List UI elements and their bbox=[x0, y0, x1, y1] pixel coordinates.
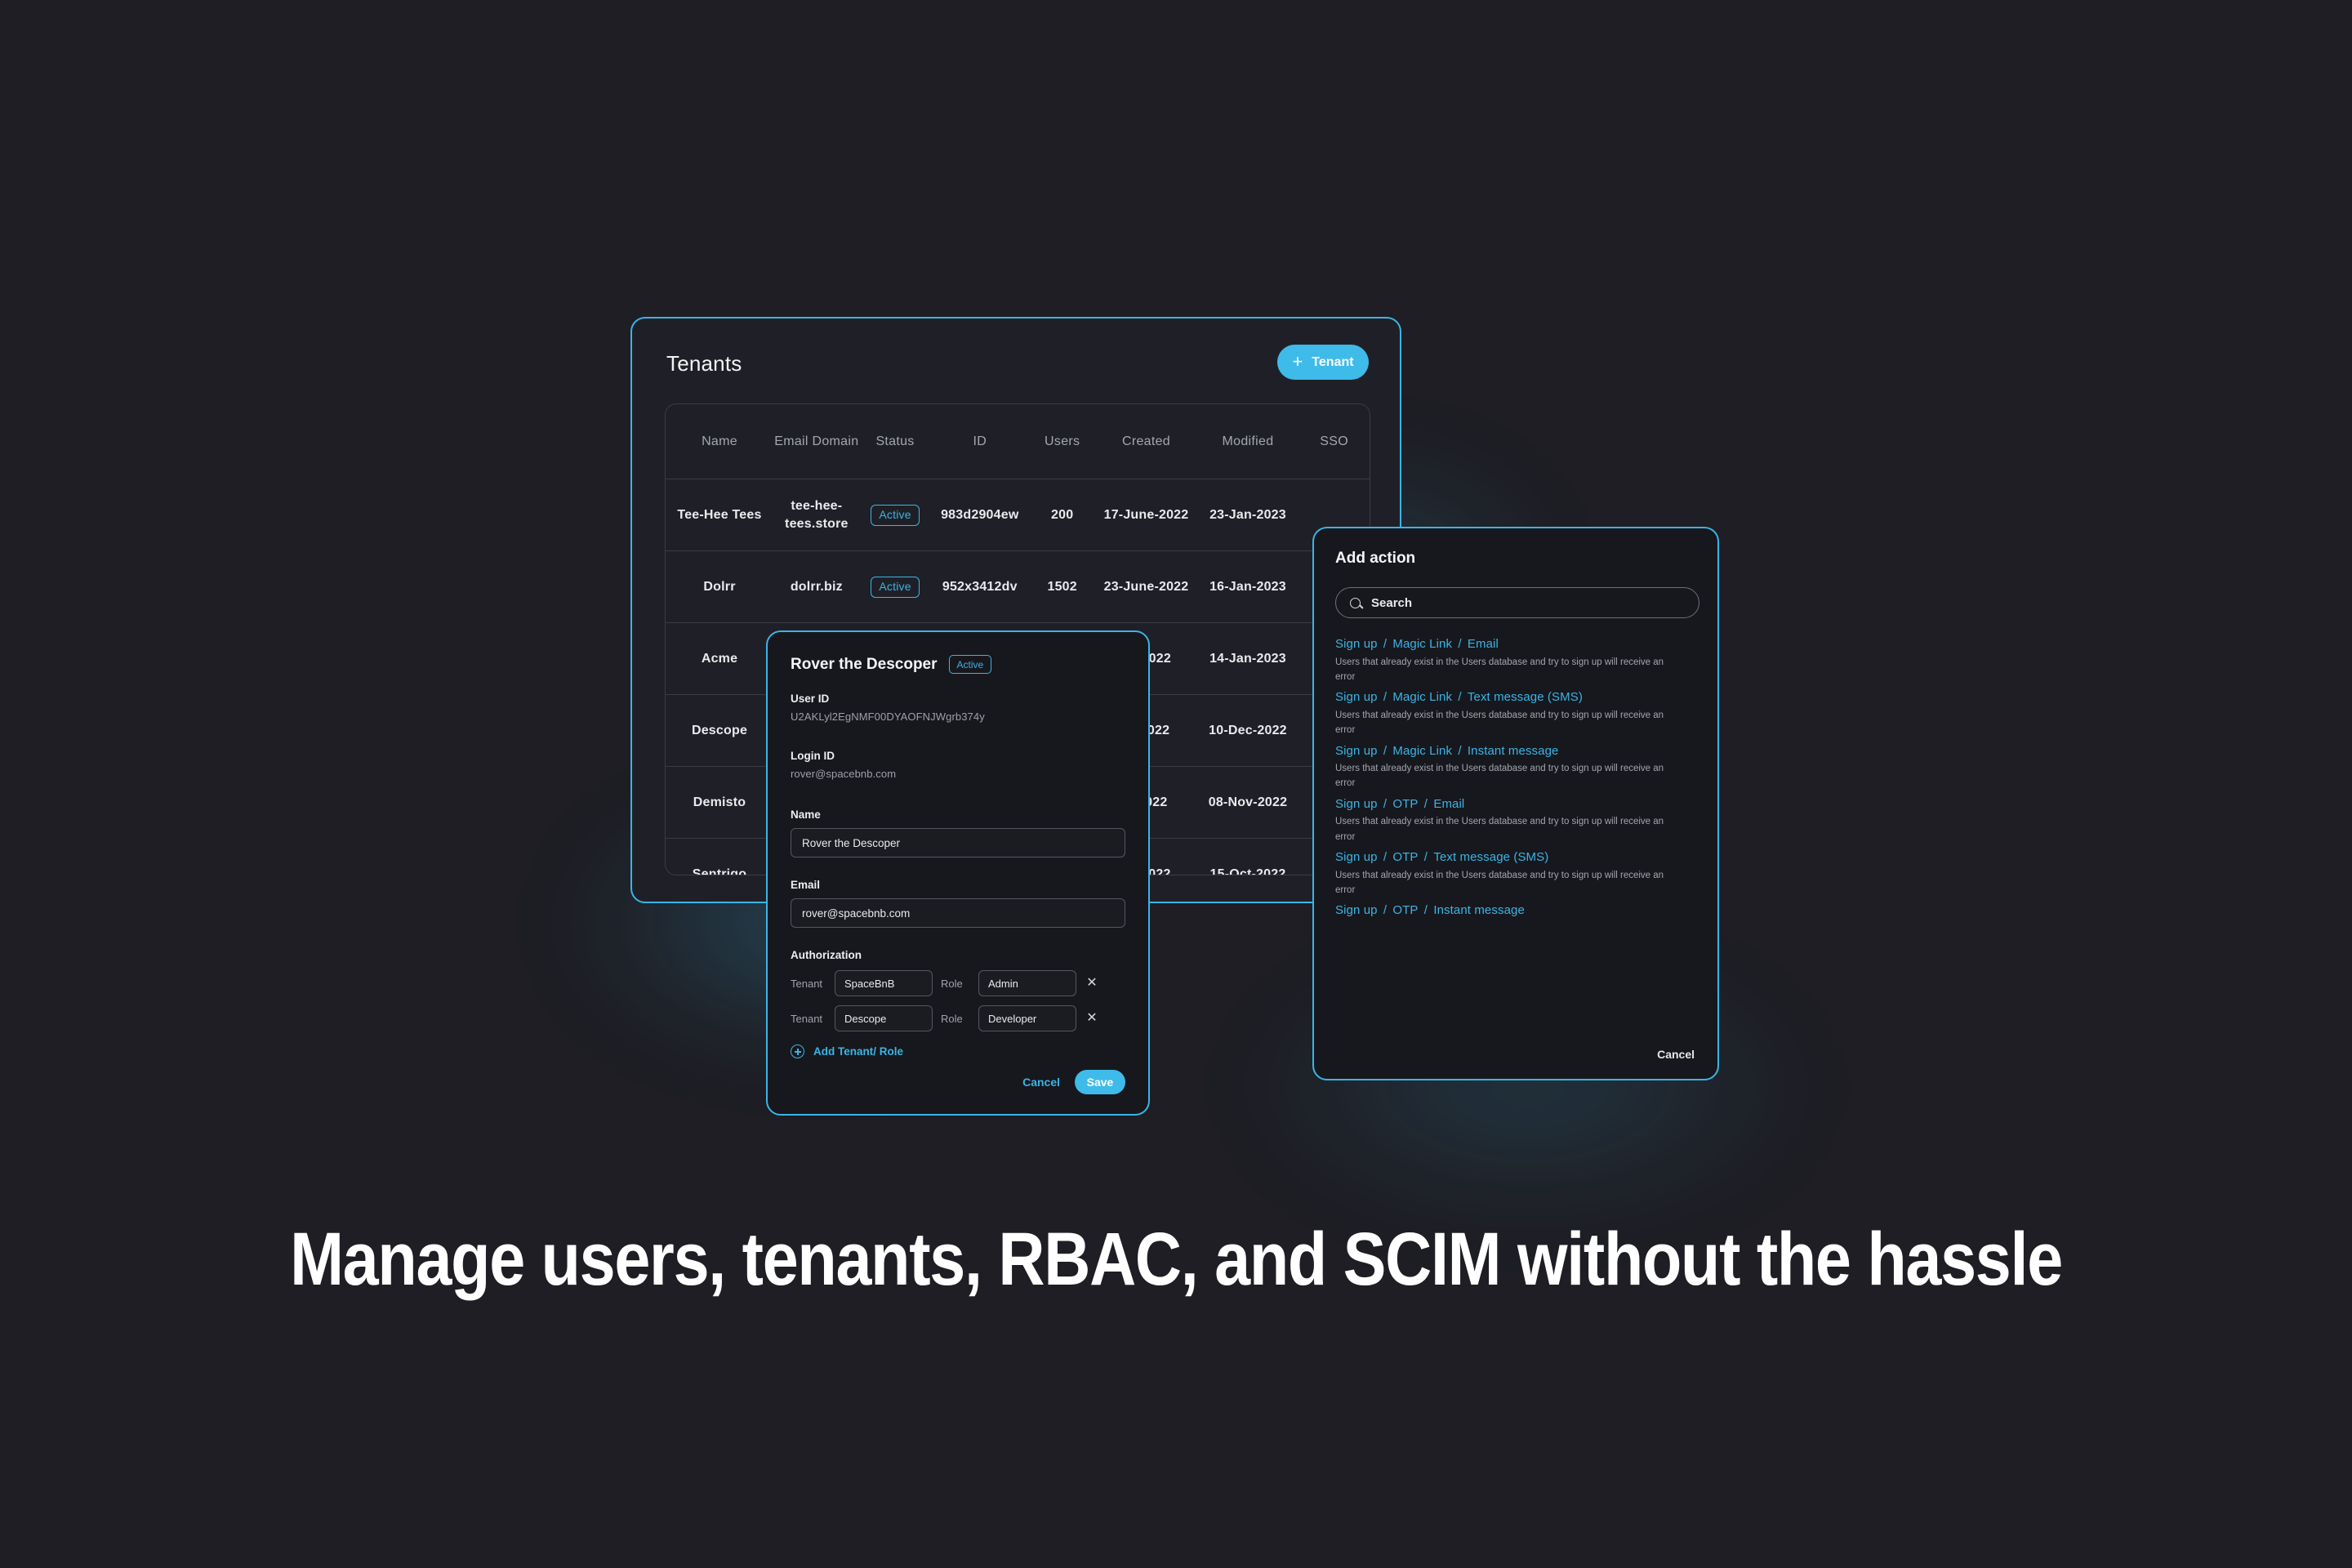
login-id-label: Login ID bbox=[791, 750, 1125, 762]
authorization-block: Authorization Tenant Role ✕ Tenant Role … bbox=[791, 949, 1125, 1058]
tenant-input[interactable] bbox=[835, 1005, 933, 1031]
column-header-created[interactable]: Created bbox=[1095, 434, 1196, 449]
action-link[interactable]: Sign up / Magic Link / Email bbox=[1335, 635, 1704, 654]
circle-plus-icon bbox=[791, 1045, 804, 1058]
add-action-title: Add action bbox=[1335, 550, 1415, 568]
action-part-3: Email bbox=[1468, 637, 1499, 651]
add-tenant-role-button[interactable]: Add Tenant/ Role bbox=[791, 1045, 1125, 1058]
authorization-row: Tenant Role ✕ bbox=[791, 1005, 1125, 1031]
separator-icon: / bbox=[1419, 850, 1434, 864]
authorization-label: Authorization bbox=[791, 949, 1125, 961]
cell-id: 952x3412dv bbox=[930, 578, 1029, 596]
list-item[interactable]: Sign up / Magic Link / Text message (SMS… bbox=[1335, 688, 1704, 737]
action-description: Users that already exist in the Users da… bbox=[1335, 814, 1678, 844]
add-tenant-role-label: Add Tenant/ Role bbox=[813, 1045, 903, 1058]
list-item[interactable]: Sign up / OTP / Email Users that already… bbox=[1335, 795, 1704, 844]
name-field-block: Name bbox=[791, 808, 1125, 857]
role-caption: Role bbox=[941, 1013, 970, 1025]
action-part-1: Sign up bbox=[1335, 637, 1378, 651]
status-badge: Active bbox=[871, 577, 919, 598]
action-link[interactable]: Sign up / OTP / Text message (SMS) bbox=[1335, 849, 1704, 867]
cell-id: 983d2904ew bbox=[930, 506, 1029, 524]
action-description: Users that already exist in the Users da… bbox=[1335, 655, 1678, 685]
list-item[interactable]: Sign up / OTP / Instant message bbox=[1335, 902, 1704, 920]
cancel-button[interactable]: Cancel bbox=[1657, 1048, 1695, 1061]
cell-created: 17-June-2022 bbox=[1095, 506, 1196, 524]
separator-icon: / bbox=[1378, 797, 1393, 811]
action-link[interactable]: Sign up / OTP / Email bbox=[1335, 795, 1704, 814]
cell-modified: 16-Jan-2023 bbox=[1197, 578, 1298, 596]
column-header-sso[interactable]: SSO bbox=[1298, 434, 1370, 449]
user-id-label: User ID bbox=[791, 693, 1125, 705]
column-header-users[interactable]: Users bbox=[1029, 434, 1095, 449]
action-part-3: Text message (SMS) bbox=[1468, 690, 1583, 704]
cancel-button[interactable]: Cancel bbox=[1022, 1076, 1060, 1089]
column-header-id[interactable]: ID bbox=[930, 434, 1029, 449]
action-link[interactable]: Sign up / Magic Link / Instant message bbox=[1335, 742, 1704, 761]
action-part-3: Text message (SMS) bbox=[1433, 850, 1548, 864]
action-part-2: OTP bbox=[1392, 797, 1418, 811]
cell-email-domain: dolrr.biz bbox=[773, 578, 860, 596]
column-header-status[interactable]: Status bbox=[860, 434, 931, 449]
action-part-3: Email bbox=[1433, 797, 1464, 811]
add-action-list: Sign up / Magic Link / Email Users that … bbox=[1335, 635, 1704, 924]
user-detail-modal: Rover the Descoper Active User ID U2AKLy… bbox=[766, 630, 1150, 1116]
tenant-caption: Tenant bbox=[791, 1013, 826, 1025]
page-root: Tenants + Tenant Name Email Domain Statu… bbox=[0, 0, 2352, 1568]
separator-icon: / bbox=[1452, 690, 1468, 704]
cell-name: Tee-Hee Tees bbox=[666, 506, 773, 524]
save-button[interactable]: Save bbox=[1075, 1070, 1125, 1094]
cell-modified: 10-Dec-2022 bbox=[1197, 722, 1298, 740]
action-part-3: Instant message bbox=[1433, 903, 1525, 917]
list-item[interactable]: Sign up / Magic Link / Instant message U… bbox=[1335, 742, 1704, 791]
separator-icon: / bbox=[1378, 744, 1393, 758]
search-icon bbox=[1350, 598, 1361, 608]
separator-icon: / bbox=[1378, 637, 1393, 651]
user-modal-actions: Cancel Save bbox=[1022, 1070, 1125, 1094]
plus-icon: + bbox=[1292, 353, 1303, 371]
email-input[interactable] bbox=[791, 898, 1125, 928]
cell-name: Dolrr bbox=[666, 578, 773, 596]
cell-name: Sentrigo bbox=[666, 866, 773, 875]
name-input[interactable] bbox=[791, 828, 1125, 857]
email-label: Email bbox=[791, 879, 1125, 891]
search-input[interactable] bbox=[1371, 596, 1685, 610]
action-part-2: OTP bbox=[1392, 850, 1418, 864]
list-item[interactable]: Sign up / Magic Link / Email Users that … bbox=[1335, 635, 1704, 684]
role-input[interactable] bbox=[978, 970, 1076, 996]
action-link[interactable]: Sign up / OTP / Instant message bbox=[1335, 902, 1704, 920]
separator-icon: / bbox=[1419, 903, 1434, 917]
cell-status: Active bbox=[860, 577, 931, 598]
headline: Manage users, tenants, RBAC, and SCIM wi… bbox=[165, 1217, 2188, 1303]
add-tenant-label: Tenant bbox=[1312, 355, 1353, 370]
separator-icon: / bbox=[1378, 903, 1393, 917]
action-part-2: Magic Link bbox=[1392, 637, 1452, 651]
remove-icon[interactable]: ✕ bbox=[1085, 1011, 1099, 1026]
tenant-input[interactable] bbox=[835, 970, 933, 996]
authorization-row: Tenant Role ✕ bbox=[791, 970, 1125, 996]
login-id-value: rover@spacebnb.com bbox=[791, 768, 1125, 780]
column-header-email-domain[interactable]: Email Domain bbox=[773, 434, 860, 449]
cell-modified: 08-Nov-2022 bbox=[1197, 794, 1298, 812]
separator-icon: / bbox=[1452, 637, 1468, 651]
name-label: Name bbox=[791, 808, 1125, 821]
search-box[interactable] bbox=[1335, 587, 1699, 618]
status-badge: Active bbox=[949, 655, 992, 674]
cell-users: 1502 bbox=[1029, 578, 1095, 596]
table-row[interactable]: Dolrr dolrr.biz Active 952x3412dv 1502 2… bbox=[666, 551, 1370, 623]
action-description: Users that already exist in the Users da… bbox=[1335, 708, 1678, 738]
action-part-1: Sign up bbox=[1335, 690, 1378, 704]
user-modal-header: Rover the Descoper Active bbox=[791, 655, 1125, 674]
separator-icon: / bbox=[1452, 744, 1468, 758]
cell-email-domain: tee-hee-tees.store bbox=[773, 497, 860, 532]
separator-icon: / bbox=[1378, 690, 1393, 704]
table-row[interactable]: Tee-Hee Tees tee-hee-tees.store Active 9… bbox=[666, 479, 1370, 551]
action-part-2: OTP bbox=[1392, 903, 1418, 917]
email-field-block: Email bbox=[791, 879, 1125, 928]
separator-icon: / bbox=[1378, 850, 1393, 864]
column-header-name[interactable]: Name bbox=[666, 434, 773, 449]
user-name: Rover the Descoper bbox=[791, 656, 938, 674]
cell-name: Acme bbox=[666, 650, 773, 668]
status-badge: Active bbox=[871, 505, 919, 526]
action-part-1: Sign up bbox=[1335, 744, 1378, 758]
remove-icon[interactable]: ✕ bbox=[1085, 976, 1099, 991]
cell-users: 200 bbox=[1029, 506, 1095, 524]
login-id-block: Login ID rover@spacebnb.com bbox=[791, 750, 1125, 780]
page-title: Tenants bbox=[666, 351, 742, 376]
user-id-block: User ID U2AKLyl2EgNMF00DYAOFNJWgrb374y bbox=[791, 693, 1125, 723]
separator-icon: / bbox=[1419, 797, 1434, 811]
cell-modified: 23-Jan-2023 bbox=[1197, 506, 1298, 524]
action-description: Users that already exist in the Users da… bbox=[1335, 868, 1678, 898]
cell-status: Active bbox=[860, 505, 931, 526]
action-part-1: Sign up bbox=[1335, 903, 1378, 917]
user-id-value: U2AKLyl2EgNMF00DYAOFNJWgrb374y bbox=[791, 710, 1125, 723]
role-caption: Role bbox=[941, 978, 970, 990]
action-part-2: Magic Link bbox=[1392, 744, 1452, 758]
table-header-row: Name Email Domain Status ID Users Create… bbox=[666, 404, 1370, 479]
add-tenant-button[interactable]: + Tenant bbox=[1277, 345, 1369, 380]
action-part-2: Magic Link bbox=[1392, 690, 1452, 704]
tenant-caption: Tenant bbox=[791, 978, 826, 990]
column-header-modified[interactable]: Modified bbox=[1197, 434, 1298, 449]
role-input[interactable] bbox=[978, 1005, 1076, 1031]
add-action-panel: Add action Sign up / Magic Link / Email … bbox=[1312, 527, 1719, 1080]
cell-created: 23-June-2022 bbox=[1095, 578, 1196, 596]
cell-modified: 15-Oct-2022 bbox=[1197, 866, 1298, 875]
action-part-1: Sign up bbox=[1335, 850, 1378, 864]
action-part-1: Sign up bbox=[1335, 797, 1378, 811]
action-part-3: Instant message bbox=[1468, 744, 1559, 758]
list-item[interactable]: Sign up / OTP / Text message (SMS) Users… bbox=[1335, 849, 1704, 898]
cell-name: Demisto bbox=[666, 794, 773, 812]
cell-name: Descope bbox=[666, 722, 773, 740]
cell-modified: 14-Jan-2023 bbox=[1197, 650, 1298, 668]
action-link[interactable]: Sign up / Magic Link / Text message (SMS… bbox=[1335, 688, 1704, 707]
action-description: Users that already exist in the Users da… bbox=[1335, 761, 1678, 791]
